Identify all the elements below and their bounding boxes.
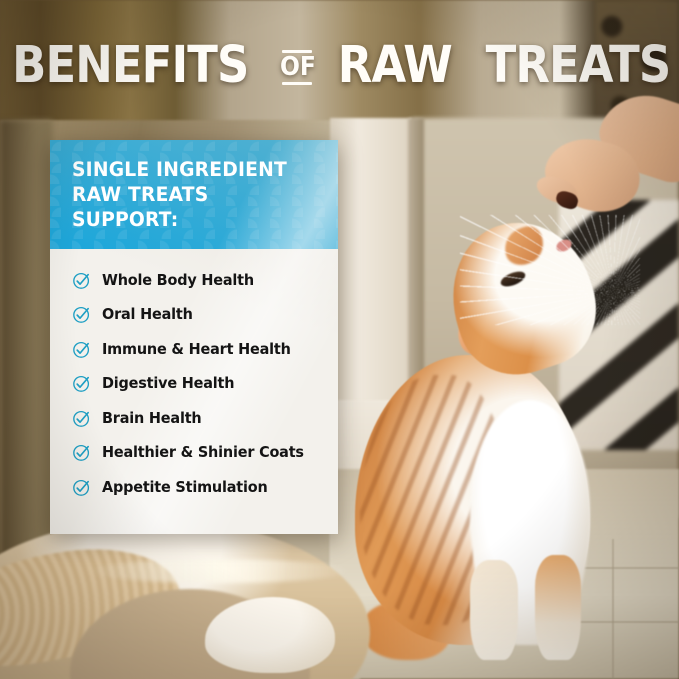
pet-bed-pillow — [205, 597, 335, 673]
benefit-item: Brain Health — [72, 409, 318, 428]
benefit-label: Whole Body Health — [102, 272, 254, 289]
title-rule-bottom — [282, 82, 312, 85]
benefit-label: Immune & Heart Health — [102, 341, 291, 358]
title-word-raw: RAW — [338, 40, 452, 91]
check-circle-icon — [72, 409, 91, 428]
check-circle-icon — [72, 374, 91, 393]
title-word-benefits: BENEFITS — [12, 40, 248, 91]
benefit-item: Digestive Health — [72, 374, 318, 393]
pet-bed-highlight — [90, 559, 350, 583]
benefits-card-header: SINGLE INGREDIENT RAW TREATS SUPPORT: — [50, 140, 338, 249]
page-title: BENEFITS OF RAW TREATS — [0, 40, 679, 91]
check-circle-icon — [72, 340, 91, 359]
benefits-header-line-2: RAW TREATS SUPPORT: — [72, 183, 306, 233]
benefit-label: Brain Health — [102, 410, 201, 427]
benefit-item: Immune & Heart Health — [72, 340, 318, 359]
cat-front-leg — [470, 560, 518, 660]
check-circle-icon — [72, 443, 91, 462]
benefit-label: Appetite Stimulation — [102, 479, 268, 496]
benefit-label: Healthier & Shinier Coats — [102, 444, 304, 461]
benefits-header-line-1: SINGLE INGREDIENT — [72, 158, 306, 183]
check-circle-icon — [72, 478, 91, 497]
check-circle-icon — [72, 305, 91, 324]
benefit-item: Oral Health — [72, 305, 318, 324]
floor-seam — [612, 539, 614, 679]
benefits-list: Whole Body HealthOral HealthImmune & Hea… — [50, 249, 338, 509]
benefit-label: Digestive Health — [102, 375, 234, 392]
title-connector-label: OF — [280, 53, 316, 82]
benefit-item: Whole Body Health — [72, 271, 318, 290]
title-word-treats: TREATS — [486, 40, 671, 91]
benefit-item: Healthier & Shinier Coats — [72, 443, 318, 462]
cat-back-leg — [535, 555, 581, 660]
benefit-item: Appetite Stimulation — [72, 478, 318, 497]
benefit-label: Oral Health — [102, 306, 193, 323]
check-circle-icon — [72, 271, 91, 290]
benefits-card: SINGLE INGREDIENT RAW TREATS SUPPORT: Wh… — [50, 140, 338, 534]
cat-whiskers — [460, 215, 640, 325]
title-connector-of: OF — [278, 50, 318, 85]
